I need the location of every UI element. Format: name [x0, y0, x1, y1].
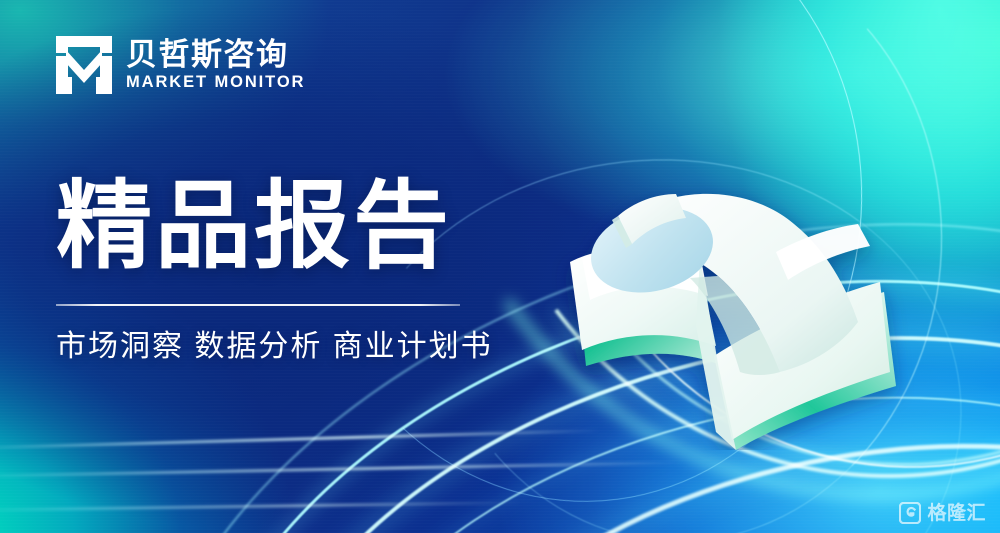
logo-text-block: 贝哲斯咨询 MARKET MONITOR	[126, 39, 305, 91]
brand-logo: 贝哲斯咨询 MARKET MONITOR	[56, 36, 305, 94]
page-subtitle: 市场洞察 数据分析 商业计划书	[56, 332, 526, 362]
light-band-2	[0, 461, 680, 478]
source-watermark: 格隆汇	[899, 502, 986, 524]
page-title: 精品报告	[56, 176, 526, 278]
light-band-3	[0, 501, 520, 512]
report-banner: 贝哲斯咨询 MARKET MONITOR 精品报告 市场洞察 数据分析 商业计划…	[0, 0, 1000, 533]
logo-name-cn: 贝哲斯咨询	[126, 39, 305, 70]
watermark-label: 格隆汇	[927, 504, 986, 523]
g-logo-icon	[899, 502, 921, 524]
headline-block: 精品报告 市场洞察 数据分析 商业计划书	[56, 176, 526, 362]
m-monogram-icon	[56, 36, 112, 94]
logo-name-en: MARKET MONITOR	[126, 74, 305, 91]
open-book-illustration	[540, 150, 940, 450]
light-band-1	[0, 429, 600, 450]
title-divider	[56, 304, 460, 306]
